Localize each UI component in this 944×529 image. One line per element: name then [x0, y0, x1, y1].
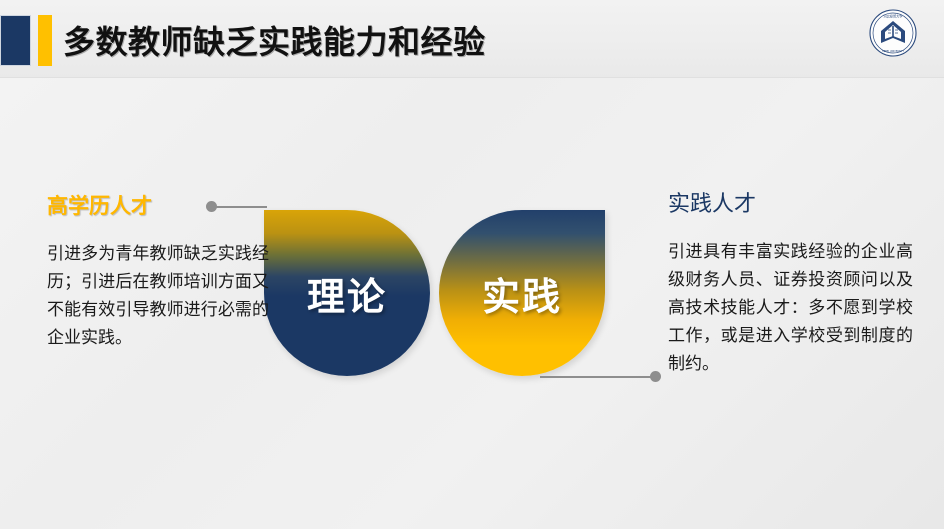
practice-shape[interactable]: 实践 [439, 210, 605, 376]
header-navy-block [0, 15, 31, 66]
university-seal-icon: 河北经贸大学 HEBEI UNIVERSITY [868, 8, 918, 58]
practice-shape-label: 实践 [482, 266, 562, 321]
svg-text:河北经贸大学: 河北经贸大学 [883, 14, 902, 19]
svg-text:HEBEI UNIVERSITY: HEBEI UNIVERSITY [882, 50, 905, 53]
left-panel-heading: 高学历人才 [47, 190, 269, 220]
slide-header: 多数教师缺乏实践能力和经验 [0, 0, 944, 78]
right-panel-heading: 实践人才 [668, 186, 913, 218]
header-amber-bar [38, 15, 52, 66]
left-panel: 高学历人才 引进多为青年教师缺乏实践经历；引进后在教师培训方面又不能有效引导教师… [47, 190, 269, 352]
page-title: 多数教师缺乏实践能力和经验 [63, 16, 486, 68]
left-panel-body: 引进多为青年教师缺乏实践经历；引进后在教师培训方面又不能有效引导教师进行必需的企… [47, 240, 269, 352]
connector-dot-icon-bottom [650, 371, 661, 382]
slide-canvas: 多数教师缺乏实践能力和经验 河北经贸大学 HEBEI UNIVERSITY 理论… [0, 0, 944, 529]
theory-shape[interactable]: 理论 [264, 210, 430, 376]
theory-shape-label: 理论 [307, 266, 387, 321]
right-panel-body: 引进具有丰富实践经验的企业高级财务人员、证券投资顾问以及高技术技能人才：多不愿到… [668, 238, 913, 378]
right-panel: 实践人才 引进具有丰富实践经验的企业高级财务人员、证券投资顾问以及高技术技能人才… [668, 186, 913, 378]
connector-line-bottom [540, 376, 655, 378]
header-divider [0, 77, 944, 78]
